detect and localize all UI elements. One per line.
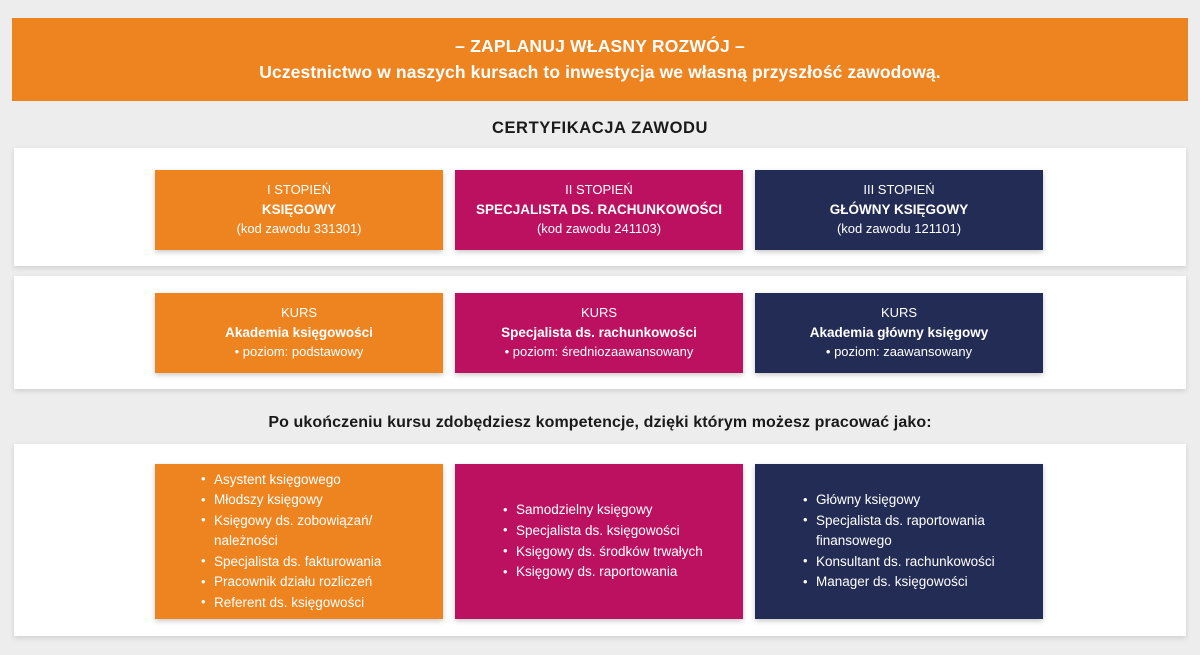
certification-level-label: I STOPIEŃ	[267, 181, 331, 200]
list-item: Księgowy ds. zobowiązań/ należności	[201, 511, 429, 552]
list-item: Młodszy księgowy	[201, 490, 429, 511]
competencies-card-row: Asystent księgowego Młodszy księgowy Ksi…	[155, 464, 1043, 619]
list-item: Samodzielny księgowy	[503, 500, 729, 521]
banner-headline: – ZAPLANUJ WŁASNY ROZWÓJ –	[455, 34, 745, 59]
competency-list: Samodzielny księgowy Specjalista ds. ksi…	[455, 500, 743, 582]
certification-card-level-2[interactable]: II STOPIEŃ SPECJALISTA DS. RACHUNKOWOŚCI…	[455, 170, 743, 250]
competency-card-basic[interactable]: Asystent księgowego Młodszy księgowy Ksi…	[155, 464, 443, 619]
list-item: Specjalista ds. fakturowania	[201, 552, 429, 573]
certification-level-label: II STOPIEŃ	[565, 181, 633, 200]
certification-card-row: I STOPIEŃ KSIĘGOWY (kod zawodu 331301) I…	[155, 170, 1043, 250]
certification-occupation-code: (kod zawodu 331301)	[236, 220, 361, 239]
list-item: Konsultant ds. rachunkowości	[803, 552, 1029, 573]
list-item: Główny księgowy	[803, 490, 1029, 511]
course-level: • poziom: zaawansowany	[826, 343, 972, 362]
course-title: Akademia księgowości	[225, 323, 373, 343]
certification-title: GŁÓWNY KSIĘGOWY	[830, 200, 969, 220]
course-level: • poziom: średniozaawansowany	[505, 343, 694, 362]
certification-level-label: III STOPIEŃ	[863, 181, 934, 200]
competency-list: Asystent księgowego Młodszy księgowy Ksi…	[155, 470, 443, 614]
banner-subheadline: Uczestnictwo w naszych kursach to inwest…	[259, 60, 940, 85]
list-item: Księgowy ds. raportowania	[503, 562, 729, 583]
certification-title: KSIĘGOWY	[262, 200, 336, 220]
course-level: • poziom: podstawowy	[235, 343, 364, 362]
course-card-row: KURS Akademia księgowości • poziom: pods…	[155, 293, 1043, 373]
competency-list: Główny księgowy Specjalista ds. raportow…	[755, 490, 1043, 593]
list-item: Pracownik działu rozliczeń	[201, 572, 429, 593]
list-item: Asystent księgowego	[201, 470, 429, 491]
certification-card-level-3[interactable]: III STOPIEŃ GŁÓWNY KSIĘGOWY (kod zawodu …	[755, 170, 1043, 250]
competency-card-advanced[interactable]: Główny księgowy Specjalista ds. raportow…	[755, 464, 1043, 619]
course-kicker: KURS	[281, 304, 317, 323]
certification-heading: CERTYFIKACJA ZAWODU	[0, 119, 1200, 138]
infographic-page: – ZAPLANUJ WŁASNY ROZWÓJ – Uczestnictwo …	[0, 0, 1200, 655]
course-card-advanced[interactable]: KURS Akademia główny księgowy • poziom: …	[755, 293, 1043, 373]
course-kicker: KURS	[881, 304, 917, 323]
competencies-heading: Po ukończeniu kursu zdobędziesz kompeten…	[0, 414, 1200, 432]
list-item: Księgowy ds. środków trwałych	[503, 542, 729, 563]
certification-title: SPECJALISTA DS. RACHUNKOWOŚCI	[476, 200, 722, 220]
list-item: Specjalista ds. księgowości	[503, 521, 729, 542]
competency-card-intermediate[interactable]: Samodzielny księgowy Specjalista ds. ksi…	[455, 464, 743, 619]
certification-occupation-code: (kod zawodu 241103)	[537, 220, 661, 239]
course-kicker: KURS	[581, 304, 617, 323]
certification-card-level-1[interactable]: I STOPIEŃ KSIĘGOWY (kod zawodu 331301)	[155, 170, 443, 250]
list-item: Manager ds. księgowości	[803, 572, 1029, 593]
list-item: Specjalista ds. raportowania finansowego	[803, 511, 1029, 552]
course-card-intermediate[interactable]: KURS Specjalista ds. rachunkowości • poz…	[455, 293, 743, 373]
header-banner: – ZAPLANUJ WŁASNY ROZWÓJ – Uczestnictwo …	[12, 18, 1188, 101]
course-title: Akademia główny księgowy	[810, 323, 989, 343]
course-title: Specjalista ds. rachunkowości	[501, 323, 697, 343]
course-card-basic[interactable]: KURS Akademia księgowości • poziom: pods…	[155, 293, 443, 373]
certification-occupation-code: (kod zawodu 121101)	[837, 220, 961, 239]
list-item: Referent ds. księgowości	[201, 593, 429, 614]
